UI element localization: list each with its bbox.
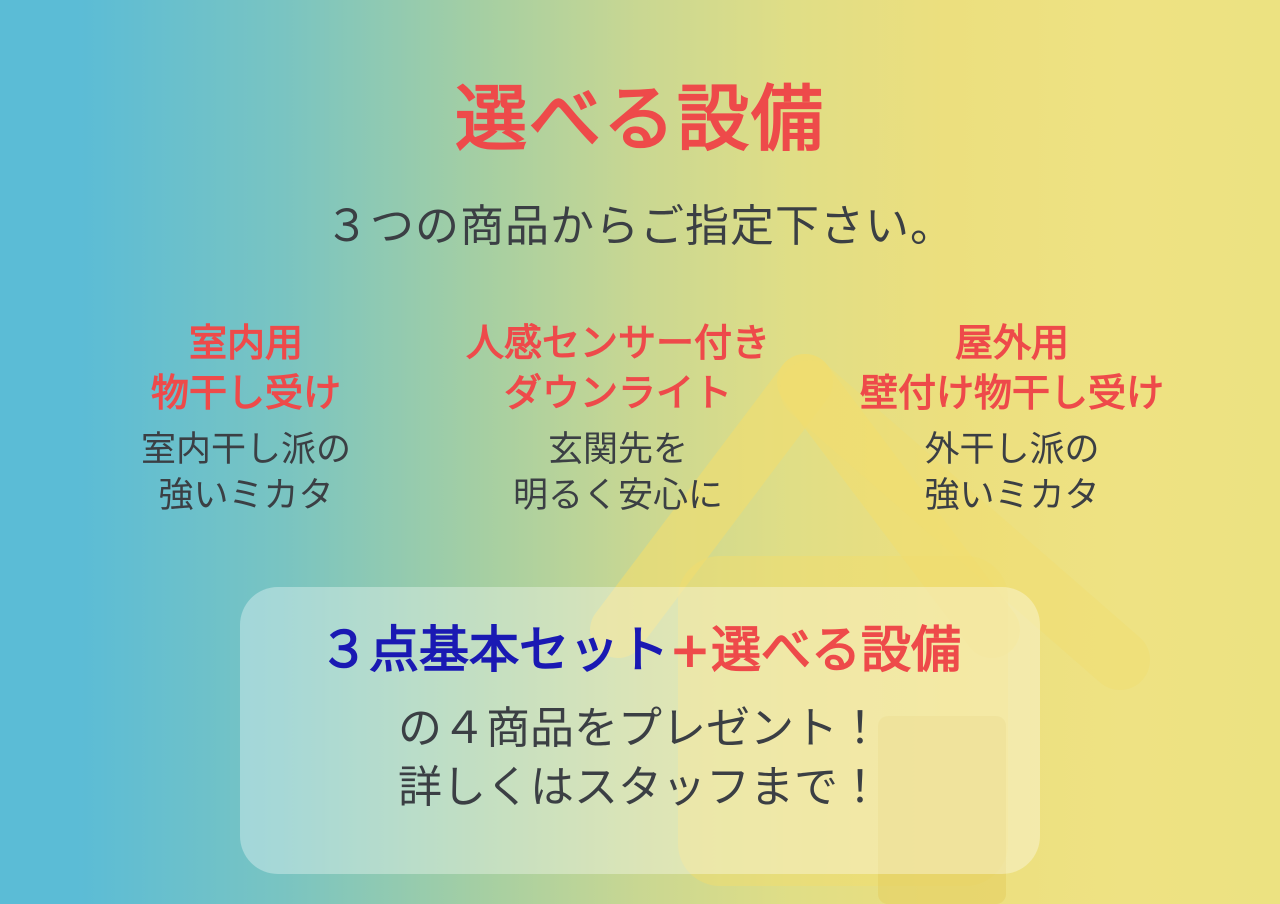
option-heading-line1: 屋外用 — [955, 321, 1069, 365]
offer-detail-line1: の４商品をプレゼント！ — [0, 700, 1280, 759]
option-description: 玄関先を 明るく安心に — [432, 428, 804, 519]
option-heading: 屋外用 壁付け物干し受け — [812, 318, 1212, 418]
option-heading-line2: 物干し受け — [68, 368, 424, 418]
option-card-downlight[interactable]: 人感センサー付き ダウンライト 玄関先を 明るく安心に — [428, 318, 808, 519]
offer-details: の４商品をプレゼント！ 詳しくはスタッフまで！ — [0, 700, 1280, 817]
offer-headline-equipment: 選べる設備 — [711, 621, 961, 679]
option-heading-line1: 人感センサー付き — [466, 321, 770, 365]
options-row: 室内用 物干し受け 室内干し派の 強いミカタ 人感センサー付き ダウンライト 玄… — [0, 318, 1280, 519]
offer-headline-set: ３点基本セット — [319, 621, 669, 679]
page-title: 選べる設備 — [0, 82, 1280, 158]
promo-poster: 選べる設備 ３つの商品からご指定下さい。 室内用 物干し受け 室内干し派の 強い… — [0, 0, 1280, 904]
option-heading: 人感センサー付き ダウンライト — [432, 318, 804, 418]
option-desc-line1: 室内干し派の — [141, 430, 351, 470]
option-description: 室内干し派の 強いミカタ — [68, 428, 424, 519]
option-card-indoor[interactable]: 室内用 物干し受け 室内干し派の 強いミカタ — [64, 318, 428, 519]
option-desc-line1: 外干し派の — [924, 430, 1099, 470]
option-desc-line2: 強いミカタ — [812, 474, 1212, 520]
option-description: 外干し派の 強いミカタ — [812, 428, 1212, 519]
page-subtitle: ３つの商品からご指定下さい。 — [0, 203, 1280, 251]
option-heading: 室内用 物干し受け — [68, 318, 424, 418]
option-heading-line2: 壁付け物干し受け — [812, 368, 1212, 418]
option-desc-line2: 明るく安心に — [432, 474, 804, 520]
option-heading-line2: ダウンライト — [432, 368, 804, 418]
option-heading-line1: 室内用 — [189, 321, 303, 365]
offer-headline: ３点基本セット+選べる設備 — [0, 624, 1280, 677]
option-desc-line1: 玄関先を — [548, 430, 688, 470]
option-card-outdoor[interactable]: 屋外用 壁付け物干し受け 外干し派の 強いミカタ — [808, 318, 1216, 519]
option-desc-line2: 強いミカタ — [68, 474, 424, 520]
offer-detail-line2: 詳しくはスタッフまで！ — [0, 759, 1280, 818]
offer-headline-plus: + — [669, 621, 711, 679]
